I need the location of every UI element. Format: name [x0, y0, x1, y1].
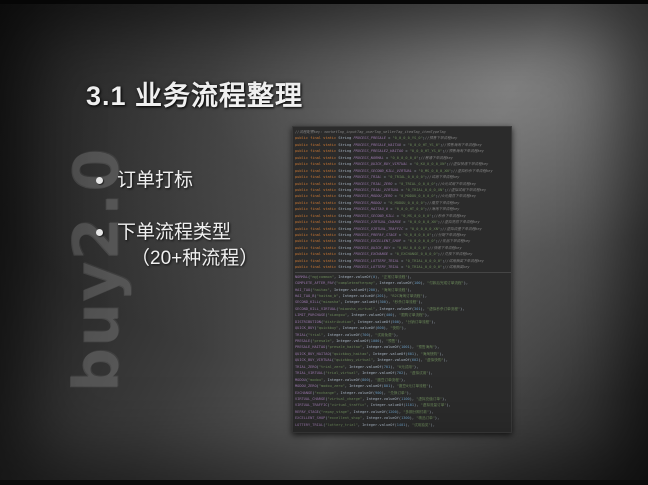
code-line: public final static String PROCESS_LOTTE…: [295, 264, 511, 270]
code-line: public final static String PROCESS_QUICK…: [295, 161, 511, 167]
list-item: 下单流程类型 （20+种流程）: [96, 220, 306, 272]
code-line: public final static String PROCESS_VIRTU…: [295, 219, 511, 225]
bullet-label-wrapper: 下单流程类型 （20+种流程）: [117, 220, 258, 272]
bullet-dot-icon: [96, 177, 103, 184]
code-line: public final static String PROCESS_PRESA…: [295, 148, 511, 154]
bullet-dot-icon: [96, 229, 103, 236]
list-item: 订单打标: [96, 168, 306, 194]
code-line: LOTTERY_TRIAL("lottery_trial", Integer.v…: [295, 422, 511, 428]
bullet-label: 下单流程类型: [117, 222, 231, 243]
code-screenshot-panel: //流程配置key: marketTag_inputTag_userTag_se…: [292, 126, 512, 433]
page-title: 3.1 业务流程整理: [86, 74, 303, 113]
slide-canvas: buy2.0 3.1 业务流程整理 订单打标 下单流程类型 （20+种流程） /…: [0, 0, 648, 485]
code-section-divider: [295, 272, 511, 273]
slide-bottom-edge: [0, 480, 648, 485]
bullet-sublabel: （20+种流程）: [117, 246, 258, 272]
bullet-list: 订单打标 下单流程类型 （20+种流程）: [96, 168, 306, 299]
bullet-label: 订单打标: [117, 168, 193, 194]
slide-top-edge: [0, 0, 648, 4]
